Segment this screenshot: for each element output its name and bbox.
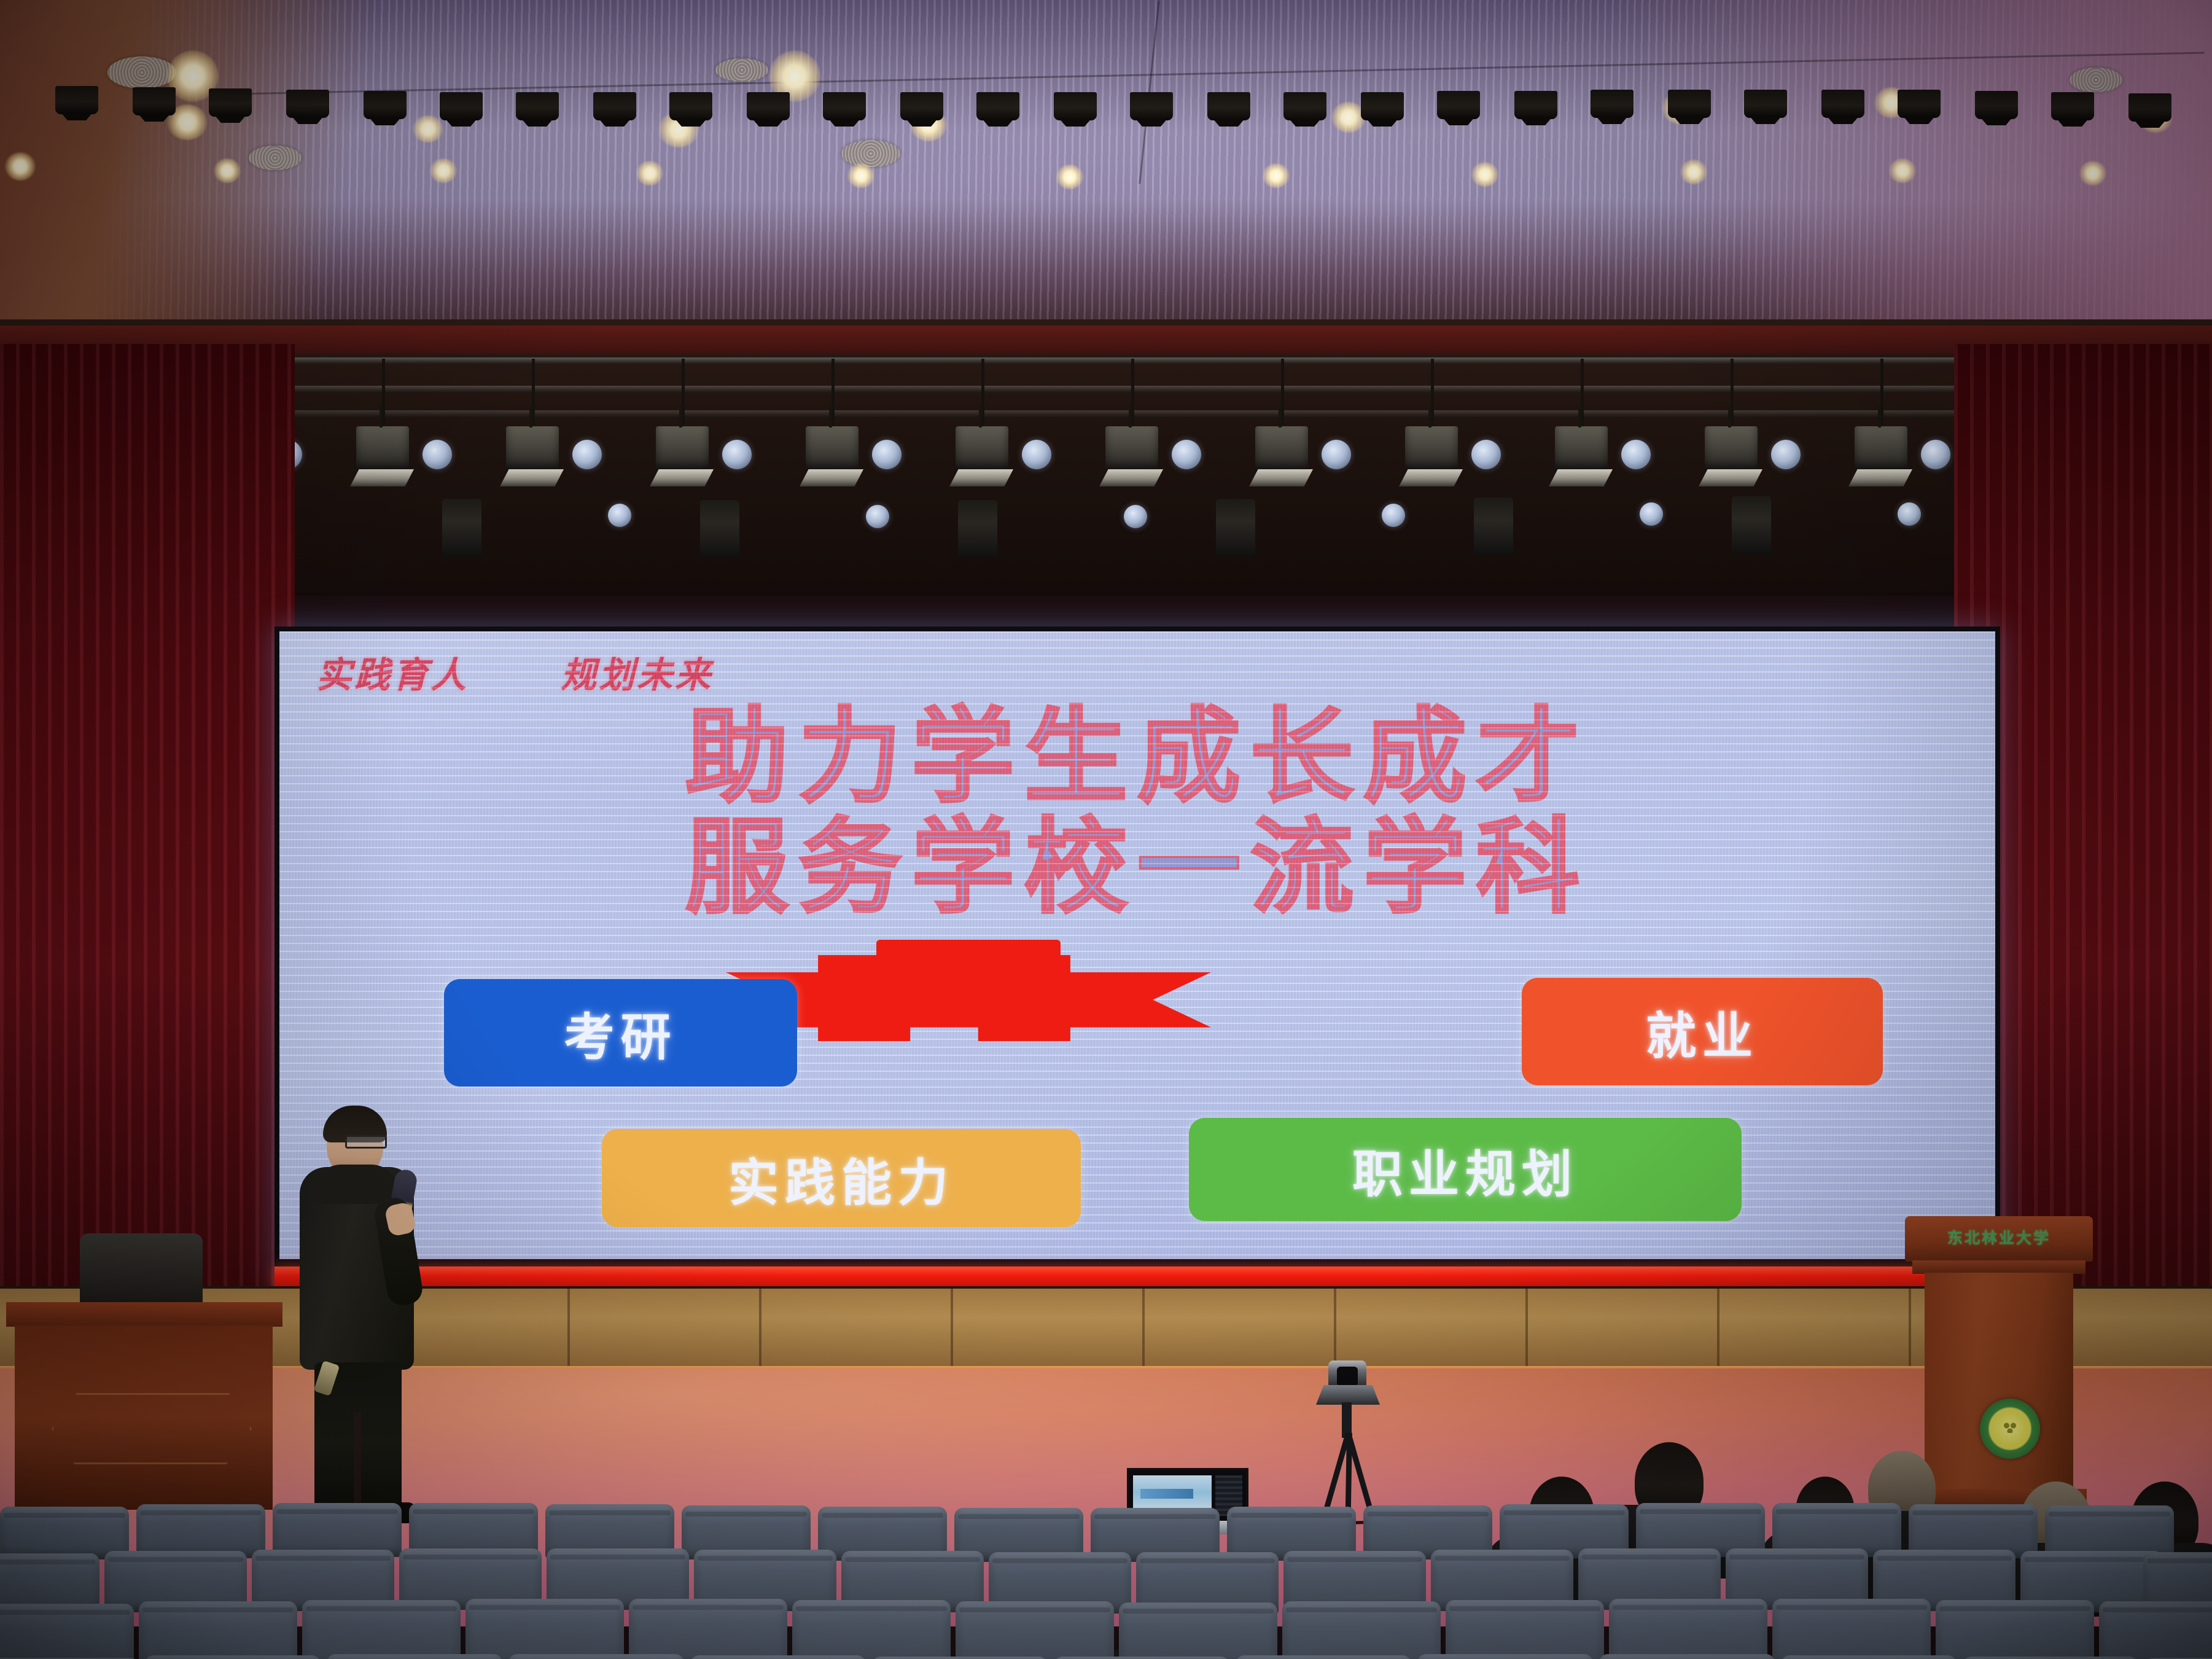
stage-speaker-box — [1591, 90, 1634, 118]
stage-speaker-box — [747, 92, 790, 120]
ceiling-downlight — [2079, 161, 2106, 185]
seat — [1781, 1655, 1957, 1659]
ceiling-downlight — [636, 161, 663, 185]
stage-speaker-box — [1668, 90, 1711, 118]
par-can-light — [1124, 505, 1147, 528]
par-can-light — [1022, 440, 1051, 469]
slide-pill-shijian: 实践能力 — [602, 1129, 1081, 1227]
stage-speaker-box — [2128, 93, 2171, 122]
stage-speaker-box — [1207, 92, 1250, 120]
stage-speaker-box — [1437, 91, 1480, 119]
seat — [1282, 1601, 1441, 1659]
seat — [508, 1654, 684, 1659]
stage-speaker-box — [133, 87, 176, 115]
seat — [465, 1599, 624, 1659]
stage-speaker-box — [286, 90, 329, 118]
ceiling — [0, 0, 2212, 344]
seat — [1599, 1654, 1775, 1659]
stage-speaker-box — [516, 92, 559, 120]
backwall-seam — [759, 1289, 761, 1372]
stage-speaker-box — [1975, 91, 2018, 119]
ceiling-downlight — [1680, 160, 1707, 184]
stage-speaker-box — [1283, 92, 1326, 120]
moving-head-light — [700, 500, 739, 556]
seat — [1054, 1657, 1229, 1659]
slide-tagline: 实践育人 规划未来 — [316, 646, 713, 698]
backwall-seam — [567, 1289, 570, 1372]
par-can-light — [1771, 440, 1801, 469]
seat — [1936, 1600, 2094, 1659]
backwall-seam — [1717, 1289, 1719, 1372]
slide-pill-jiuye: 就业 — [1522, 978, 1883, 1085]
truss-red-band — [0, 326, 2212, 354]
ceiling-downlight — [214, 158, 241, 183]
stage-speaker-box — [900, 92, 943, 120]
podium-engraved-text: 东北林业大学 — [1905, 1226, 2093, 1248]
backwall-seam — [1334, 1289, 1336, 1372]
stage-light-fixture — [1405, 426, 1458, 472]
stage-light-fixture — [1855, 426, 1907, 472]
moving-head-light — [1732, 496, 1771, 553]
stage-speaker-box — [1821, 90, 1864, 118]
ceiling-downlight — [413, 115, 443, 142]
par-can-light — [572, 440, 602, 469]
stage-light-fixture — [806, 426, 859, 472]
stage-light-fixture — [356, 426, 409, 472]
par-can-light — [1172, 440, 1201, 469]
tagline-left: 实践育人 — [316, 646, 469, 698]
seat — [273, 1503, 402, 1557]
par-can-light — [423, 440, 452, 469]
stage-speaker-box — [1514, 91, 1557, 119]
moving-head-light — [1216, 499, 1255, 555]
auditorium-stage-photo: 实践育人 规划未来 助力学生成长成才 服务学校一流学科 考研 就业 实践能力 职… — [0, 0, 2212, 1659]
stage-speaker-box — [209, 88, 252, 117]
stage-light-fixture — [506, 426, 559, 472]
moving-head-light — [1474, 498, 1513, 554]
seat — [1417, 1654, 1593, 1659]
par-can-light — [866, 505, 889, 528]
ceiling-downlight — [847, 163, 874, 188]
backwall-seam — [951, 1289, 953, 1372]
stage-speaker-box — [976, 92, 1019, 120]
par-can-light — [1382, 504, 1405, 527]
stage-light-fixture — [656, 426, 709, 472]
stage-light-fixture — [1255, 426, 1308, 472]
par-can-light — [1621, 440, 1651, 469]
stage-speaker-box — [1898, 90, 1941, 118]
seat — [136, 1504, 265, 1558]
seat — [792, 1600, 951, 1659]
par-can-light — [722, 440, 752, 469]
ceiling-pink-tint-right — [1536, 0, 2212, 344]
seat — [145, 1655, 321, 1659]
backwall-seam — [1909, 1289, 1911, 1372]
seat — [629, 1599, 787, 1659]
podium-lip — [1912, 1260, 2085, 1274]
ceiling-speaker-icon — [715, 58, 768, 82]
stage-speaker-box — [1361, 92, 1404, 120]
seat — [327, 1654, 502, 1659]
ceiling-downlight — [1889, 158, 1916, 183]
ceiling-speaker-icon — [841, 140, 900, 167]
seat — [139, 1601, 297, 1659]
stage-speaker-box — [2051, 92, 2094, 120]
stage-speaker-box — [823, 92, 866, 120]
tagline-right: 规划未来 — [561, 646, 713, 698]
seat — [1609, 1599, 1767, 1659]
ceiling-downlight — [1471, 162, 1498, 187]
slide-pill-kaoyan: 考研 — [444, 979, 797, 1087]
stage-speaker-box — [440, 92, 483, 120]
stage-speaker-box — [593, 92, 636, 120]
ceiling-speaker-icon — [107, 57, 176, 88]
ceiling-speaker-icon — [2070, 68, 2122, 92]
ceiling-warm-tint-left — [0, 0, 553, 344]
auditorium-seating — [0, 1508, 2212, 1659]
par-can-light — [1640, 502, 1663, 526]
par-can-light — [872, 440, 902, 469]
stage-light-fixture — [1705, 426, 1758, 472]
par-can-light — [1471, 440, 1501, 469]
desk-top — [6, 1302, 282, 1327]
ceiling-speaker-icon — [249, 146, 302, 170]
backwall-seam — [1142, 1289, 1145, 1372]
seat — [0, 1604, 134, 1659]
seat — [1772, 1599, 1931, 1659]
camera-lens-icon — [1337, 1367, 1358, 1386]
par-can-light — [1322, 440, 1351, 469]
seat — [2099, 1601, 2212, 1659]
par-can-light — [1921, 440, 1950, 469]
par-can-light — [1898, 502, 1921, 526]
stage-lighting-rig — [0, 319, 2212, 596]
par-can-light — [608, 504, 631, 527]
slide-headline-line1: 助力学生成长成才 — [279, 705, 1995, 808]
seat — [1236, 1655, 1411, 1659]
glasses-icon — [345, 1135, 387, 1149]
stage-speaker-box — [1054, 92, 1097, 120]
seat — [1119, 1602, 1277, 1659]
stage-curtain-left — [0, 344, 295, 1388]
moving-head-light — [958, 500, 997, 556]
backwall-seam — [1525, 1289, 1528, 1372]
stage-speaker-box — [669, 92, 712, 120]
stage-light-fixture — [1555, 426, 1608, 472]
ceiling-downlight — [1056, 165, 1083, 189]
podium-top: 东北林业大学 — [1905, 1216, 2093, 1262]
stage-light-fixture — [956, 426, 1008, 472]
seat — [1963, 1657, 2138, 1659]
stage-light-fixture — [1105, 426, 1158, 472]
slide-headline-line2: 服务学校一流学科 — [279, 816, 1995, 919]
ceiling-downlight — [5, 152, 36, 181]
ceiling-downlight — [1263, 163, 1290, 188]
stage-speaker-box — [364, 91, 407, 119]
seat — [872, 1657, 1048, 1659]
seat — [1446, 1600, 1604, 1659]
stage-speaker-box — [1130, 92, 1173, 120]
seat — [302, 1600, 461, 1659]
slide-pill-zhiye: 职业规划 — [1189, 1118, 1742, 1221]
stage-speaker-box — [55, 86, 98, 114]
seat — [956, 1601, 1114, 1659]
stage-speaker-box — [1744, 90, 1787, 118]
ceiling-downlight — [430, 158, 457, 183]
moving-head-light — [442, 499, 481, 555]
seat — [690, 1655, 866, 1659]
presenter-hood — [313, 1165, 399, 1204]
